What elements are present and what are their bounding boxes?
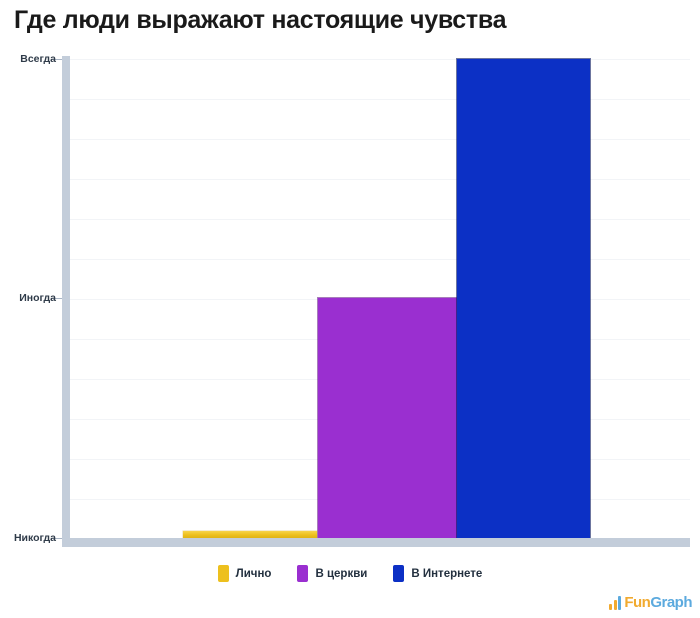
y-label-always: Всегда xyxy=(20,53,56,65)
legend-label-church: В церкви xyxy=(315,568,367,580)
legend-label-personal: Лично xyxy=(236,568,272,580)
gridline xyxy=(70,139,690,140)
watermark-text-fun: Fun xyxy=(624,594,650,611)
y-label-sometimes: Иногда xyxy=(19,292,56,304)
bar-chart-icon xyxy=(609,596,621,610)
y-axis xyxy=(62,56,70,546)
y-axis-labels: Всегда Иногда Никогда xyxy=(0,50,56,550)
gridline xyxy=(70,99,690,100)
chart-legend: Лично В церкви В Интернете xyxy=(0,565,700,582)
plot-area xyxy=(70,59,690,538)
gridline xyxy=(70,59,690,60)
gridline xyxy=(70,179,690,180)
chart-plot: Всегда Иногда Никогда xyxy=(0,50,700,550)
legend-swatch-icon xyxy=(297,565,308,582)
gridline xyxy=(70,259,690,260)
gridline xyxy=(70,219,690,220)
bar-church[interactable] xyxy=(318,298,457,538)
y-label-never: Никогда xyxy=(14,532,56,544)
bar-internet[interactable] xyxy=(457,59,590,538)
legend-label-internet: В Интернете xyxy=(411,568,482,580)
x-axis-baseline xyxy=(62,538,690,547)
legend-swatch-icon xyxy=(393,565,404,582)
legend-item-personal[interactable]: Лично xyxy=(218,565,272,582)
legend-item-church[interactable]: В церкви xyxy=(297,565,367,582)
watermark-fungraph: FunGraph xyxy=(609,595,692,610)
bar-personal[interactable] xyxy=(183,531,317,538)
legend-swatch-icon xyxy=(218,565,229,582)
page-title: Где люди выражают настоящие чувства xyxy=(14,6,506,35)
watermark-text-graph: Graph xyxy=(650,594,692,611)
legend-item-internet[interactable]: В Интернете xyxy=(393,565,482,582)
